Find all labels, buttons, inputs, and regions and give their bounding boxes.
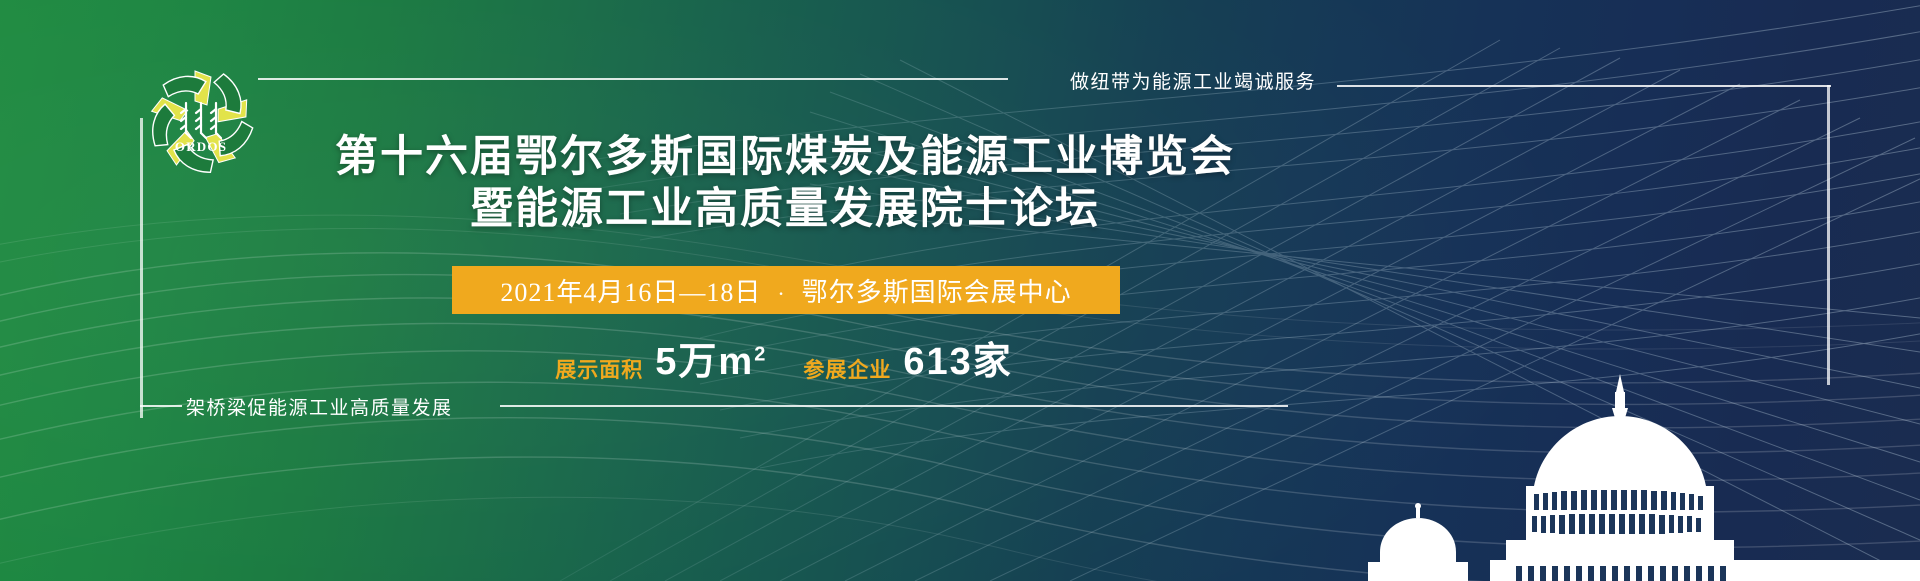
tagline-bottom-left: 架桥梁促能源工业高质量发展 — [186, 393, 453, 420]
frame-bracket-right — [1827, 85, 1830, 385]
stat-exhibitor-count: 参展企业 613家 — [803, 330, 1016, 389]
event-title-line-2: 暨能源工业高质量发展院士论坛 — [0, 184, 1570, 236]
event-title-line-1: 第十六届鄂尔多斯国际煤炭及能源工业博览会 — [0, 132, 1570, 184]
stat-label-exhibitor-count: 参展企业 — [803, 354, 891, 389]
rule-top-left — [258, 78, 1008, 80]
title-block: 第十六届鄂尔多斯国际煤炭及能源工业博览会 暨能源工业高质量发展院士论坛 — [0, 132, 1570, 237]
date-venue-bar: 2021年4月16日—18日·鄂尔多斯国际会展中心 — [452, 266, 1120, 314]
rule-bottom-left — [140, 405, 182, 407]
stat-exhibition-area: 展示面积 5万m2 — [555, 330, 769, 389]
tagline-top-right: 做纽带为能源工业竭诚服务 — [1070, 67, 1316, 94]
stat-superscript-exhibition-area: 2 — [754, 343, 765, 365]
stat-value-exhibition-area: 5万m2 — [651, 330, 769, 389]
date-venue-separator: · — [777, 281, 785, 306]
stat-number-exhibition-area: 5万m — [655, 341, 754, 383]
event-date: 2021年4月16日—18日 — [500, 278, 761, 307]
date-venue-text: 2021年4月16日—18日·鄂尔多斯国际会展中心 — [500, 272, 1071, 309]
stat-number-exhibitor-count: 613家 — [903, 341, 1012, 383]
event-banner: ORDOS 做纽带为能源工业竭诚服务 架桥梁促能源工业高质量发展 第十六届鄂尔多… — [0, 0, 1920, 581]
rule-top-right — [1337, 85, 1831, 87]
event-venue: 鄂尔多斯国际会展中心 — [802, 278, 1072, 307]
stat-label-exhibition-area: 展示面积 — [555, 354, 643, 389]
stats-row: 展示面积 5万m2 参展企业 613家 — [0, 330, 1572, 389]
stat-value-exhibitor-count: 613家 — [899, 330, 1016, 389]
rule-bottom-right — [500, 405, 1288, 407]
